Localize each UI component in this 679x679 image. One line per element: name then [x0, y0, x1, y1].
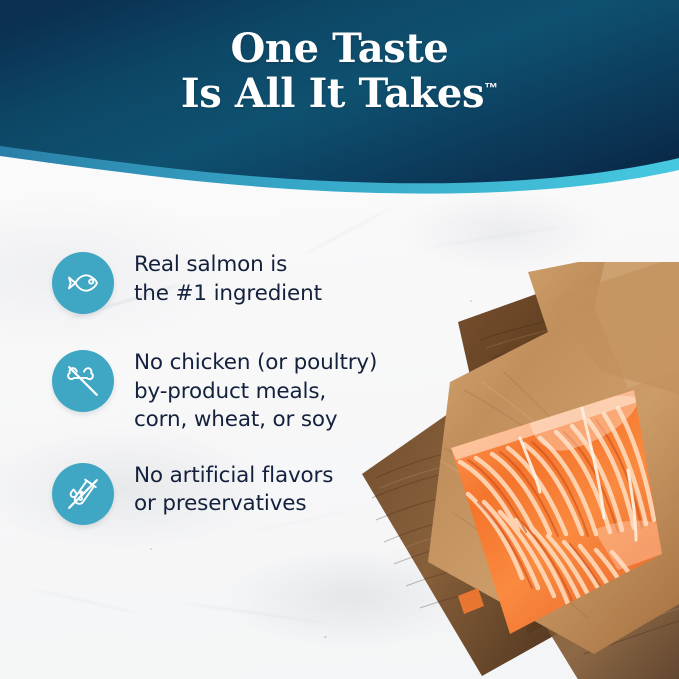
marble-vein: [181, 602, 330, 625]
benefit-line: corn, wheat, or soy: [134, 406, 377, 435]
marble-vein: [431, 226, 560, 248]
benefits-list: Real salmon is the #1 ingredient: [52, 250, 392, 525]
benefit-item-no-artificial: No artificial flavors or preservatives: [52, 461, 392, 525]
benefit-line: the #1 ingredient: [134, 280, 322, 309]
title-line-2: Is All It Takes: [181, 70, 484, 117]
no-test-tube-icon: [52, 463, 114, 525]
benefit-line: by-product meals,: [134, 378, 377, 407]
benefit-text-no-chicken: No chicken (or poultry) by-product meals…: [134, 348, 377, 435]
benefit-line: No artificial flavors: [134, 462, 333, 491]
title-line-1: One Taste: [0, 27, 679, 72]
benefit-line: No chicken (or poultry): [134, 349, 377, 378]
benefit-text-no-artificial: No artificial flavors or preservatives: [134, 461, 333, 519]
benefit-line: Real salmon is: [134, 251, 322, 280]
marble-speck: [324, 636, 327, 638]
no-bone-icon: [52, 350, 114, 412]
benefit-item-no-chicken: No chicken (or poultry) by-product meals…: [52, 348, 392, 435]
title-line-2-wrap: Is All It Takes™: [0, 72, 679, 117]
marble-vein: [31, 588, 139, 615]
trademark-symbol: ™: [484, 79, 498, 95]
fish-icon: [52, 252, 114, 314]
page-title: One Taste Is All It Takes™: [0, 27, 679, 117]
benefit-item-salmon: Real salmon is the #1 ingredient: [52, 250, 392, 314]
advertisement-canvas: One Taste Is All It Takes™ Real salmon i…: [0, 0, 679, 679]
marble-speck: [150, 548, 152, 550]
header-banner: One Taste Is All It Takes™: [0, 0, 679, 215]
benefit-line: or preservatives: [134, 490, 333, 519]
benefit-text-salmon: Real salmon is the #1 ingredient: [134, 250, 322, 308]
